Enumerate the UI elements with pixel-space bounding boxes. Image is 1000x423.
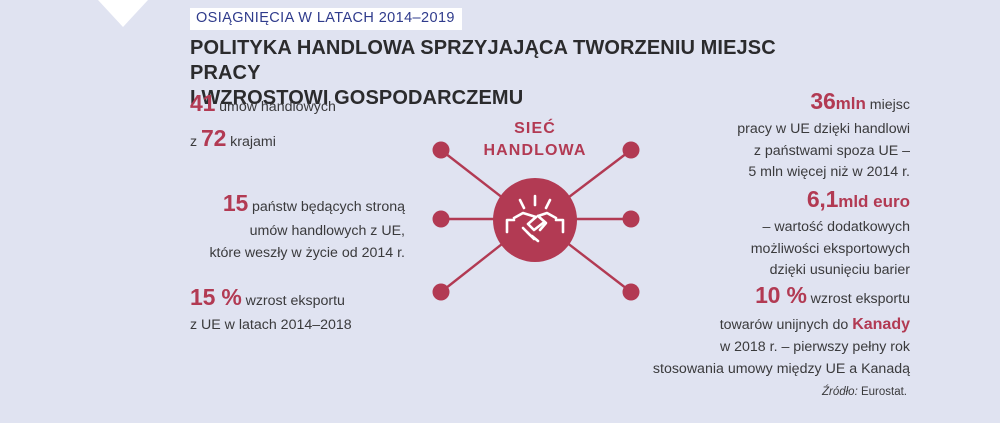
source-value: Eurostat.	[858, 386, 907, 398]
node-top-left	[433, 142, 450, 159]
eyebrow-label: OSIĄGNIĘCIA W LATACH 2014–2019	[190, 8, 462, 30]
fact-text: wzrost eksportu	[242, 293, 345, 309]
fact-line: w 2018 r. – pierwszy pełny rok	[590, 337, 910, 359]
fact-value: 72	[201, 125, 226, 151]
node-mid-left	[433, 211, 450, 228]
fact-text: krajami	[226, 134, 276, 150]
fact-text: umów handlowych	[215, 99, 336, 115]
node-mid-right	[623, 211, 640, 228]
fact-line: które weszły w życie od 2014 r.	[190, 243, 405, 265]
corner-notch-triangle	[98, 0, 148, 27]
fact-line: z UE w latach 2014–2018	[190, 315, 370, 337]
fact-trade-agreements: 41 umów handlowych z 72 krajami	[190, 86, 336, 156]
infographic-root: OSIĄGNIĘCIA W LATACH 2014–2019 POLITYKA …	[0, 0, 1000, 423]
node-bottom-right	[623, 284, 640, 301]
fact-value: 41	[190, 90, 215, 116]
fact-line: z 72 krajami	[190, 121, 336, 156]
fact-export-growth-eu: 15 % wzrost eksportu z UE w latach 2014–…	[190, 280, 370, 337]
source-label: Źródło:	[822, 386, 858, 398]
fact-text: wzrost eksportu	[807, 291, 910, 307]
fact-text: miejsc	[866, 97, 910, 113]
fact-value: 10 %	[755, 282, 807, 308]
node-bottom-left	[433, 284, 450, 301]
hub-circle	[493, 178, 577, 262]
node-top-right	[623, 142, 640, 159]
fact-partner-countries: 15 państw będących stroną umów handlowyc…	[190, 186, 405, 264]
trade-network-diagram: SIEĆ HANDLOWA	[410, 110, 660, 320]
fact-line: stosowania umowy między UE a Kanadą	[590, 359, 910, 381]
fact-value: 15	[223, 190, 248, 216]
page-title-line-1: POLITYKA HANDLOWA SPRZYJAJĄCA TWORZENIU …	[190, 37, 776, 84]
fact-export-opportunities: 6,1mld euro – wartość dodatkowych możliw…	[640, 182, 910, 282]
fact-value: 15 %	[190, 284, 242, 310]
fact-value: 6,1	[807, 186, 838, 212]
source-note: Źródło: Eurostat.	[822, 386, 907, 398]
fact-line: 6,1mld euro	[640, 182, 910, 217]
fact-text: państw będących stroną	[248, 199, 405, 215]
fact-line: – wartość dodatkowych	[640, 217, 910, 239]
fact-prefix: z	[190, 134, 201, 150]
fact-unit: mld euro	[838, 192, 910, 211]
fact-line: umów handlowych z UE,	[190, 221, 405, 243]
network-spokes-svg	[410, 110, 660, 320]
fact-line: 15 % wzrost eksportu	[190, 280, 370, 315]
fact-highlight: Kanady	[852, 316, 910, 333]
fact-value: 36	[810, 88, 835, 114]
fact-prefix: towarów unijnych do	[720, 317, 853, 333]
fact-line: możliwości eksportowych	[640, 239, 910, 261]
fact-line: 41 umów handlowych	[190, 86, 336, 121]
fact-unit: mln	[836, 94, 866, 113]
fact-line: 15 państw będących stroną	[190, 186, 405, 221]
